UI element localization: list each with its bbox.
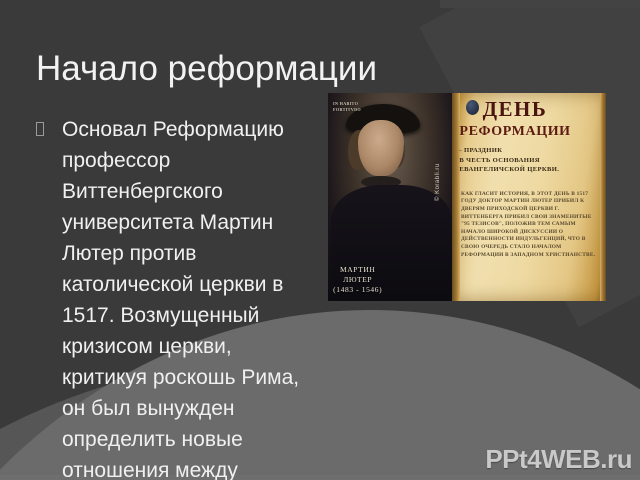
portrait-caption: МАРТИН ЛЮТЕР (1483 - 1546) (331, 265, 385, 295)
portrait-latin-inscription-left: IN HABITO FORTITVDO (333, 101, 361, 113)
scroll-subtitle: - ПРАЗДНИК В ЧЕСТЬ ОСНОВАНИЯ ЕВАНГЕЛИЧСК… (459, 146, 601, 175)
scroll-roll-right (600, 93, 606, 301)
portrait-caption-name: МАРТИН ЛЮТЕР (331, 265, 385, 285)
scroll-body-text: КАК ГЛАСИТ ИСТОРИЯ, В ЭТОТ ДЕНЬ В 1517 Г… (461, 191, 600, 259)
bullet-box-icon (36, 114, 62, 145)
scroll-heading-primary: ДЕНЬ (483, 98, 548, 120)
slide-image: IN HABITO FORTITVDO МАРТИН ЛЮТЕР (1483 -… (328, 93, 606, 301)
scroll-seal-icon (466, 100, 479, 115)
luther-face-shape (358, 120, 404, 176)
list-item-label: Основал Реформацию профессор Виттенбергс… (62, 114, 306, 480)
scroll-heading-secondary: РЕФОРМАЦИИ (459, 124, 570, 139)
body-text-block: Основал Реформацию профессор Виттенбергс… (36, 114, 306, 480)
reformation-day-scroll: ДЕНЬ РЕФОРМАЦИИ - ПРАЗДНИК В ЧЕСТЬ ОСНОВ… (452, 93, 606, 301)
page-title: Начало реформации (36, 47, 596, 91)
image-inner-watermark: © Korabli.ru (435, 163, 441, 201)
portrait-caption-dates: (1483 - 1546) (331, 285, 385, 295)
site-watermark: PPt4WEB.ru (485, 444, 632, 474)
presentation-slide: Начало реформации Основал Реформацию про… (0, 0, 640, 480)
background-swoosh-top-edge (440, 0, 640, 8)
list-item: Основал Реформацию профессор Виттенбергс… (36, 114, 306, 480)
